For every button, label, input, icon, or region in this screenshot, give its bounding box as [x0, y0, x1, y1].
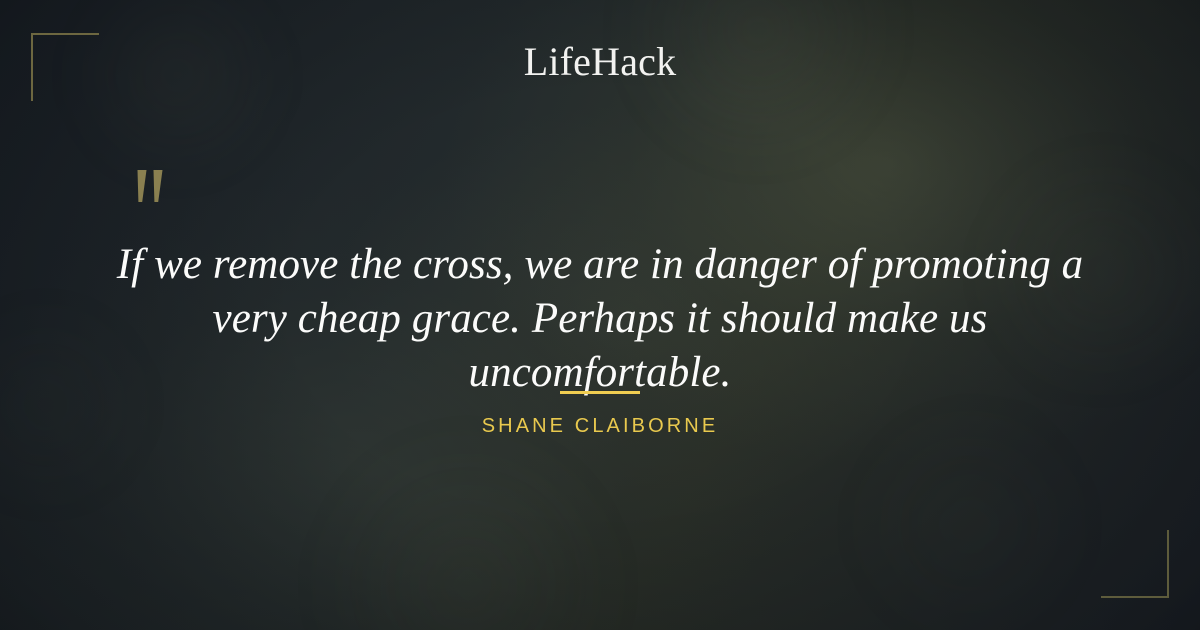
corner-bracket-bottom-right-icon	[1101, 530, 1169, 598]
author-name: SHANE CLAIBORNE	[482, 415, 719, 437]
quote-block: If we remove the cross, we are in danger…	[0, 238, 1200, 400]
divider-container	[0, 381, 1200, 399]
gold-divider	[560, 391, 640, 394]
lifehack-logo[interactable]: LifeHack	[0, 38, 1200, 86]
quote-line-1: If we remove the cross, we are in danger…	[117, 241, 1084, 288]
quotation-mark-icon	[129, 166, 189, 222]
attribution-container: SHANE CLAIBORNE	[0, 413, 1200, 439]
quote-text: If we remove the cross, we are in danger…	[95, 238, 1105, 400]
quote-card: LifeHack If we remove the cross, we are …	[0, 0, 1200, 630]
